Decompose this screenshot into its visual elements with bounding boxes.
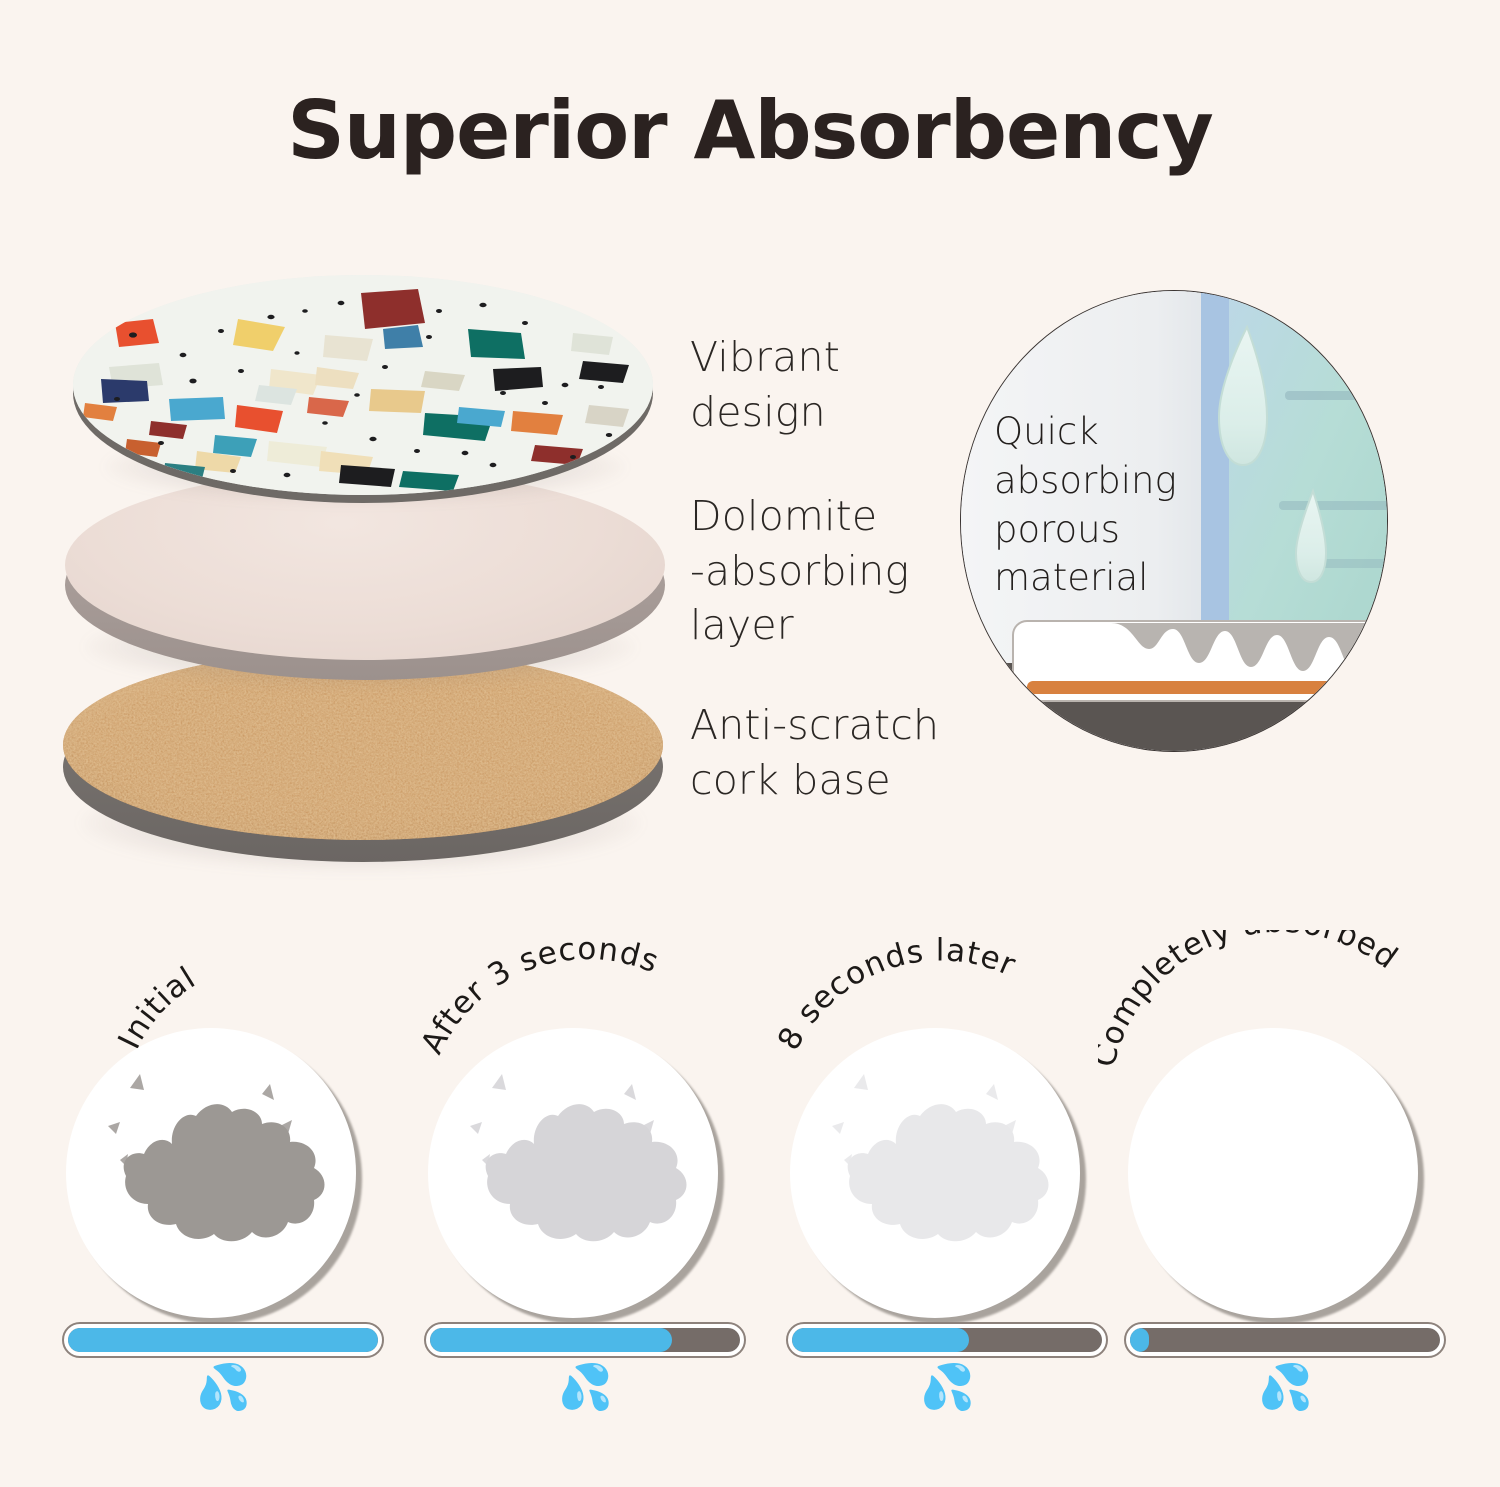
label-line: Vibrant bbox=[690, 330, 840, 385]
coaster-disc bbox=[66, 1028, 356, 1318]
label-line: cork base bbox=[690, 753, 939, 808]
progress-bar-track bbox=[430, 1328, 740, 1352]
caption-line: absorbing bbox=[994, 457, 1177, 506]
feature-label-dolomite-layer: Dolomite -absorbing layer bbox=[690, 489, 909, 653]
water-stain-2 bbox=[428, 1028, 718, 1318]
page-title: Superior Absorbency bbox=[0, 84, 1500, 177]
feature-label-vibrant-design: Vibrant design bbox=[690, 330, 840, 439]
sweat-droplets-icon: 💦 bbox=[1098, 1366, 1473, 1410]
sequence-step-initial: Initial bbox=[36, 930, 411, 1487]
sequence-step-after-3-seconds: After 3 seconds bbox=[398, 930, 773, 1487]
label-line: design bbox=[690, 385, 840, 440]
progress-bar-1 bbox=[62, 1322, 384, 1358]
terrazzo-top-layer bbox=[73, 275, 653, 495]
sweat-droplets-icon: 💦 bbox=[760, 1366, 1135, 1410]
caption-line: material bbox=[994, 554, 1177, 603]
label-line: Anti-scratch bbox=[690, 698, 939, 753]
label-line: layer bbox=[690, 598, 909, 653]
terrazzo-surface bbox=[73, 275, 653, 495]
sequence-step-completely-absorbed: Completely absorbed 💦 bbox=[1098, 930, 1473, 1487]
coaster-disc bbox=[428, 1028, 718, 1318]
coaster-disc bbox=[790, 1028, 1080, 1318]
progress-bar-3 bbox=[786, 1322, 1108, 1358]
progress-bar-fill bbox=[792, 1328, 969, 1352]
caption-line: porous bbox=[994, 506, 1177, 555]
progress-bar-2 bbox=[424, 1322, 746, 1358]
progress-bar-4 bbox=[1124, 1322, 1446, 1358]
inset-photo-quick-absorbing: Quick absorbing porous material bbox=[960, 290, 1388, 752]
sweat-droplets-icon: 💦 bbox=[36, 1366, 411, 1410]
progress-bar-track bbox=[1130, 1328, 1440, 1352]
sequence-step-8-seconds-later: 8 seconds later bbox=[760, 930, 1135, 1487]
caption-line: Quick bbox=[994, 408, 1177, 457]
water-stain-4 bbox=[1128, 1028, 1418, 1318]
feature-label-cork-base: Anti-scratch cork base bbox=[690, 698, 939, 807]
progress-bar-track bbox=[792, 1328, 1102, 1352]
coaster-disc bbox=[1128, 1028, 1418, 1318]
label-line: Dolomite bbox=[690, 489, 909, 544]
exploded-layer-diagram bbox=[55, 255, 675, 855]
progress-bar-track bbox=[68, 1328, 378, 1352]
progress-bar-fill bbox=[1130, 1328, 1149, 1352]
infographic-root: Superior Absorbency bbox=[0, 0, 1500, 1487]
terrazzo-chips bbox=[73, 275, 653, 495]
water-stain-1 bbox=[66, 1028, 356, 1318]
water-stain-3 bbox=[790, 1028, 1080, 1318]
label-line: -absorbing bbox=[690, 544, 909, 599]
absorption-sequence: Initial bbox=[0, 930, 1500, 1487]
sweat-droplets-icon: 💦 bbox=[398, 1366, 773, 1410]
inset-caption: Quick absorbing porous material bbox=[994, 408, 1177, 603]
progress-bar-fill bbox=[68, 1328, 378, 1352]
progress-bar-fill bbox=[430, 1328, 672, 1352]
cork-strip bbox=[1027, 681, 1379, 694]
